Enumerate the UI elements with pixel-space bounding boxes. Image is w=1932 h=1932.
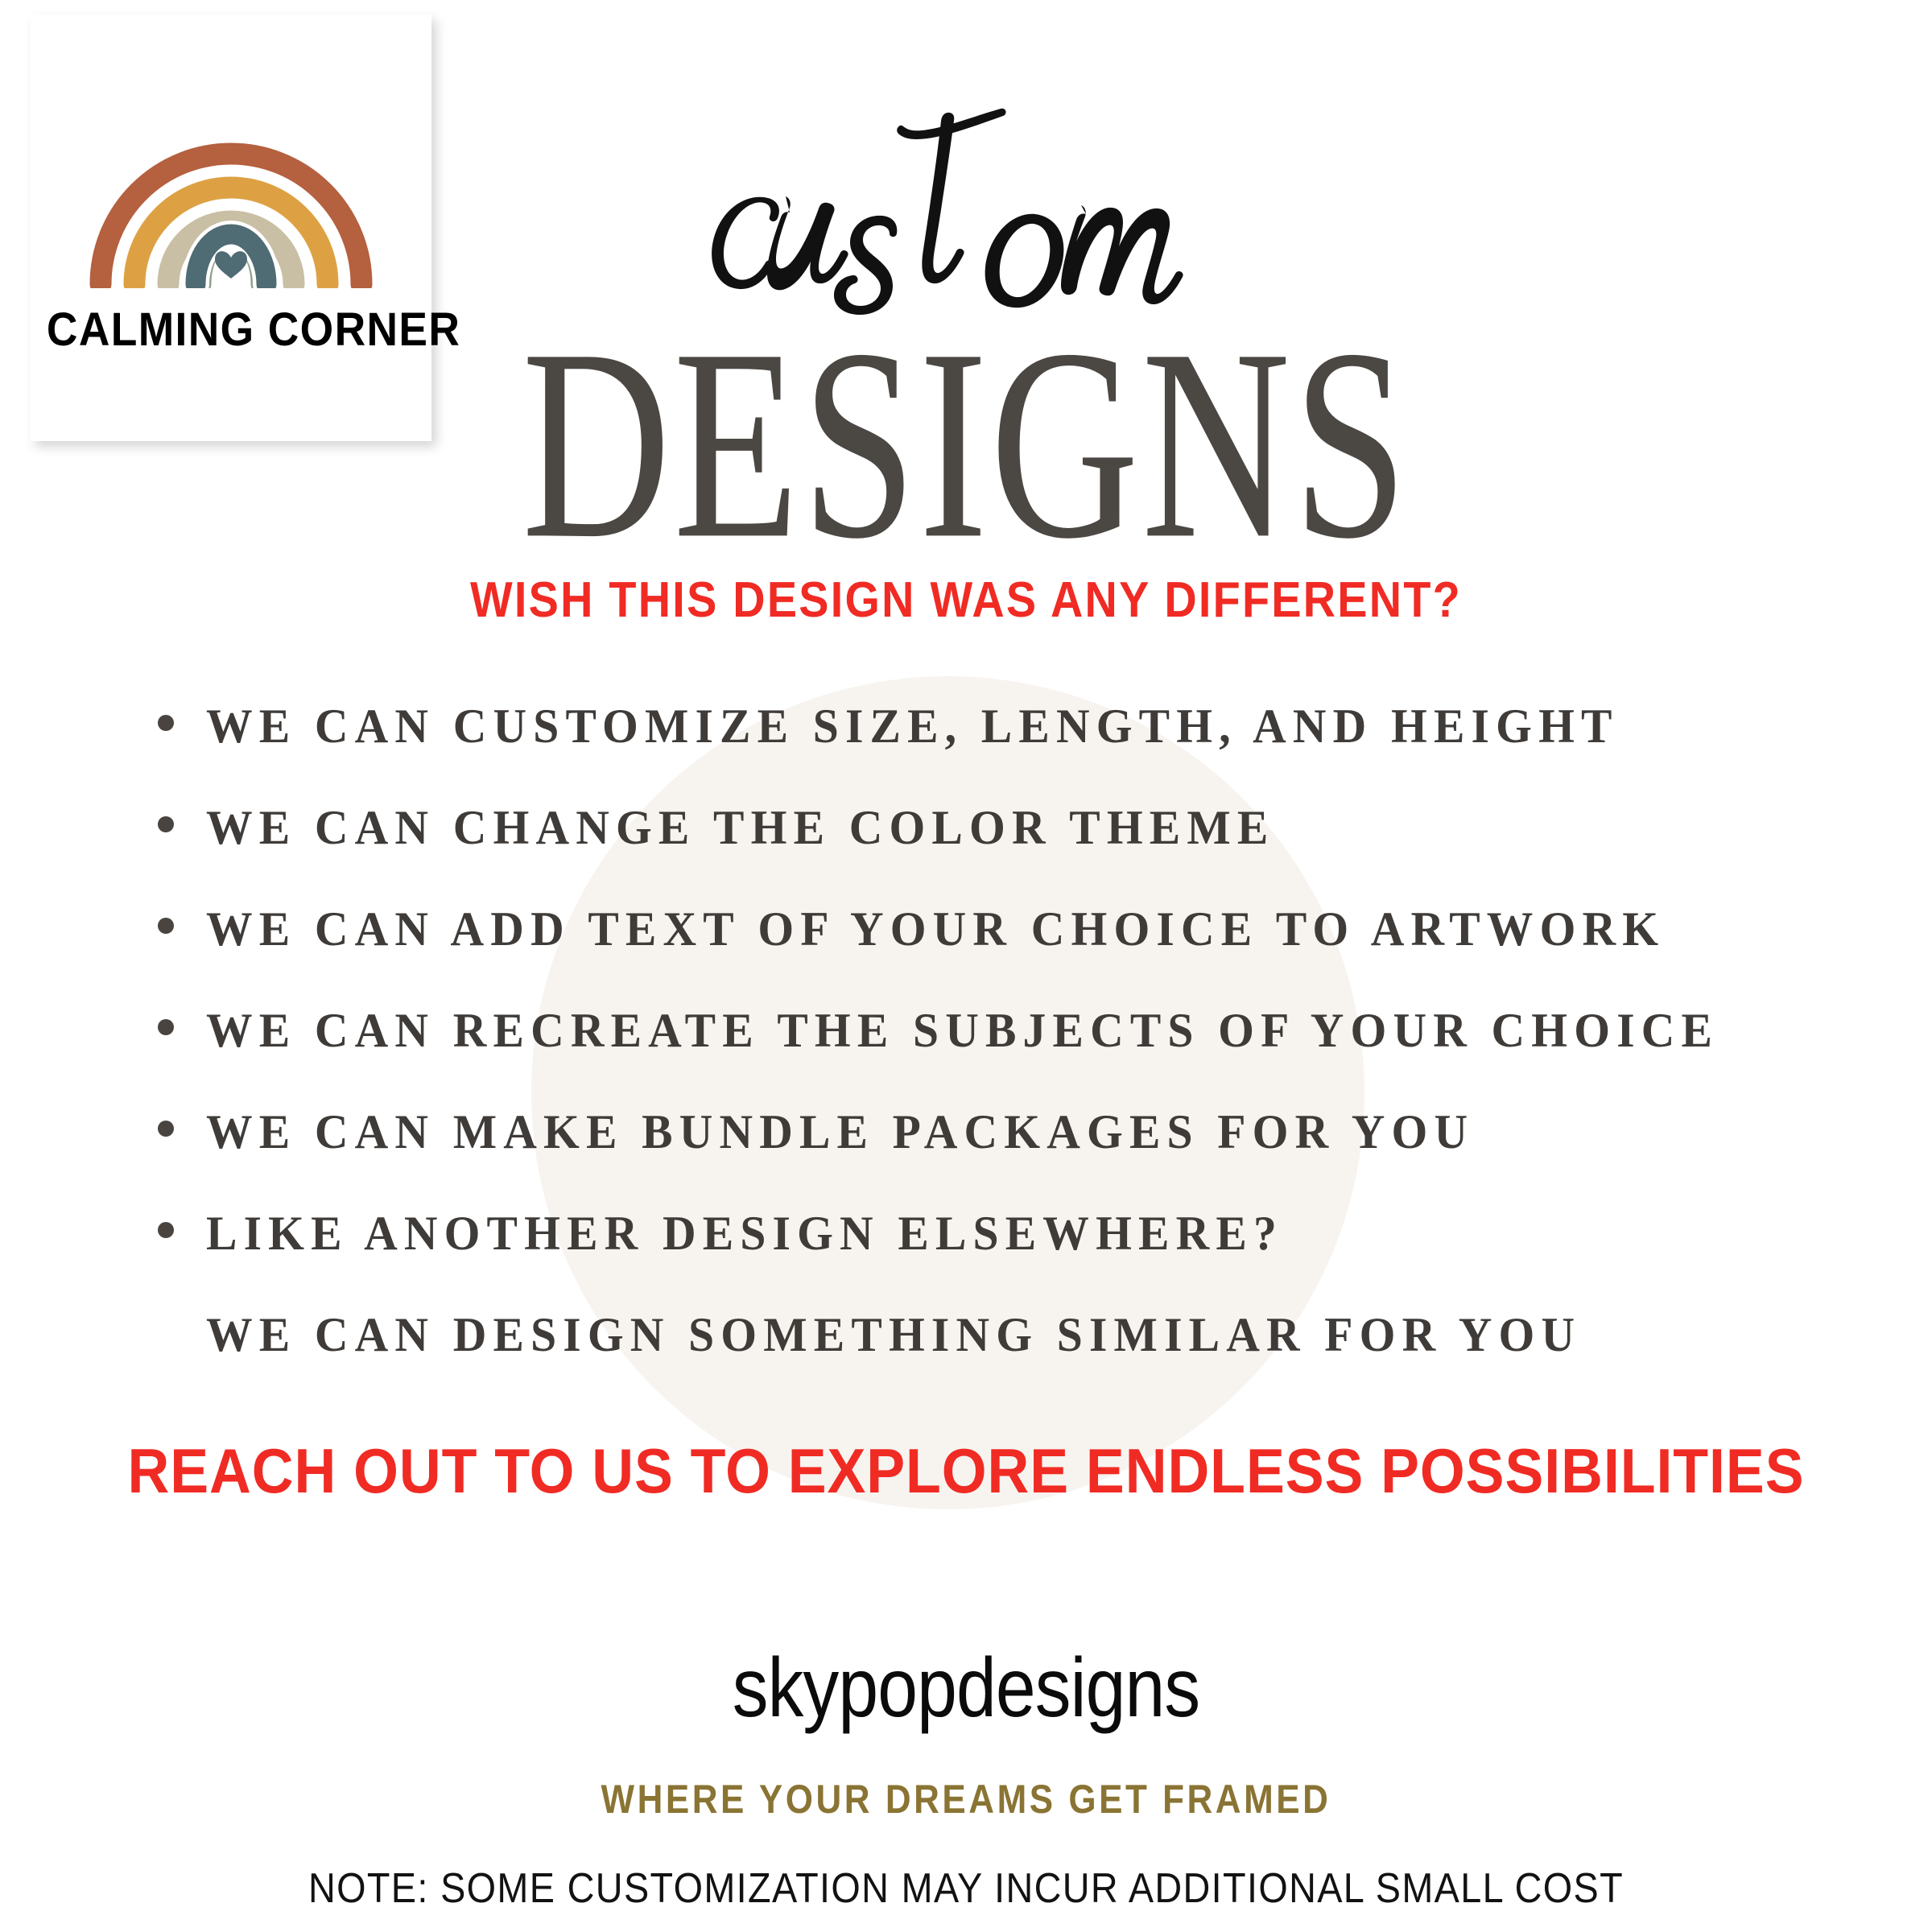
list-item-label: WE CAN CHANGE THE COLOR THEME bbox=[206, 800, 1274, 856]
bullet-dot-icon bbox=[158, 816, 174, 832]
list-item: WE CAN CUSTOMIZE SIZE, LENGTH, AND HEIGH… bbox=[158, 699, 1864, 800]
list-item-label: WE CAN CUSTOMIZE SIZE, LENGTH, AND HEIGH… bbox=[206, 699, 1619, 754]
logo-card: CALMING CORNER bbox=[31, 14, 431, 441]
bullet-dot-icon bbox=[158, 715, 174, 731]
call-to-action-text: REACH OUT TO US TO EXPLORE ENDLESS POSSI… bbox=[77, 1435, 1855, 1508]
list-item: WE CAN ADD TEXT OF YOUR CHOICE TO ARTWOR… bbox=[158, 902, 1864, 1003]
list-item-continuation: WE CAN DESIGN SOMETHING SIMILAR FOR YOU bbox=[158, 1307, 1864, 1409]
footer-note: NOTE: SOME CUSTOMIZATION MAY INCUR ADDIT… bbox=[97, 1864, 1835, 1913]
list-item: LIKE ANOTHER DESIGN ELSEWHERE? bbox=[158, 1206, 1864, 1307]
bullet-dot-icon bbox=[158, 918, 174, 934]
list-item: WE CAN RECREATE THE SUBJECTS OF YOUR CHO… bbox=[158, 1003, 1864, 1104]
list-item: WE CAN CHANGE THE COLOR THEME bbox=[158, 800, 1864, 902]
feature-list: WE CAN CUSTOMIZE SIZE, LENGTH, AND HEIGH… bbox=[158, 699, 1864, 1409]
list-item-label: LIKE ANOTHER DESIGN ELSEWHERE? bbox=[206, 1206, 1283, 1261]
list-item-label: WE CAN ADD TEXT OF YOUR CHOICE TO ARTWOR… bbox=[206, 902, 1665, 957]
list-item-label: WE CAN RECREATE THE SUBJECTS OF YOUR CHO… bbox=[206, 1003, 1719, 1059]
footer-tagline: WHERE YOUR DREAMS GET FRAMED bbox=[116, 1776, 1816, 1823]
subtitle-question: WISH THIS DESIGN WAS ANY DIFFERENT? bbox=[97, 572, 1835, 629]
list-item-continuation-label: WE CAN DESIGN SOMETHING SIMILAR FOR YOU bbox=[206, 1307, 1581, 1363]
list-item: WE CAN MAKE BUNDLE PACKAGES FOR YOU bbox=[158, 1104, 1864, 1206]
bullet-dot-icon bbox=[158, 1222, 174, 1238]
footer-brand-name: skypopdesigns bbox=[135, 1641, 1797, 1736]
logo-wordmark: CALMING CORNER bbox=[47, 303, 415, 357]
rainbow-heart-logo-icon bbox=[78, 119, 384, 292]
bullet-dot-icon bbox=[158, 1121, 174, 1137]
list-item-label: WE CAN MAKE BUNDLE PACKAGES FOR YOU bbox=[206, 1104, 1474, 1160]
bullet-dot-icon bbox=[158, 1019, 174, 1035]
